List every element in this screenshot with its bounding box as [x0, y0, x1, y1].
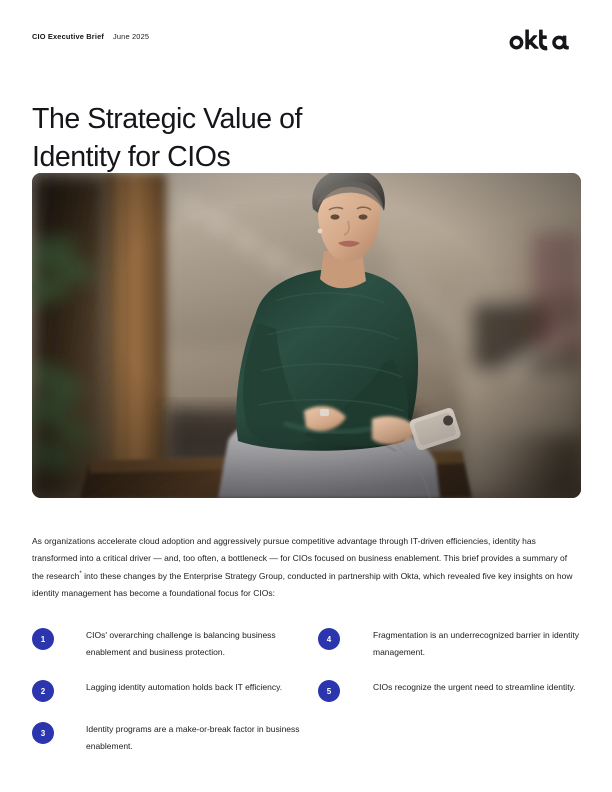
list-item: 5 CIOs recognize the urgent need to stre…	[318, 678, 581, 702]
insight-text: Fragmentation is an underrecognized barr…	[373, 626, 581, 660]
insight-text: CIOs recognize the urgent need to stream…	[373, 678, 576, 696]
insights-column-left: 1 CIOs' overarching challenge is balanci…	[32, 626, 318, 754]
intro-text-part-2: into these changes by the Enterprise Str…	[32, 571, 573, 599]
insight-number-badge: 1	[32, 628, 54, 650]
document-page: CIO Executive Brief June 2025 The Strate…	[0, 0, 612, 792]
insight-text: Lagging identity automation holds back I…	[86, 678, 282, 696]
document-date-label: June 2025	[113, 32, 149, 42]
list-item: 4 Fragmentation is an underrecognized ba…	[318, 626, 581, 660]
insight-number-badge: 5	[318, 680, 340, 702]
insight-number-badge: 4	[318, 628, 340, 650]
breadcrumb: CIO Executive Brief June 2025	[32, 28, 149, 42]
list-item: 2 Lagging identity automation holds back…	[32, 678, 318, 702]
page-title-line-2: Identity for CIOs	[32, 138, 472, 176]
document-type-label: CIO Executive Brief	[32, 32, 104, 42]
insight-number-badge: 2	[32, 680, 54, 702]
okta-logo	[505, 28, 581, 52]
insights-column-right: 4 Fragmentation is an underrecognized ba…	[318, 626, 581, 754]
insight-text: CIOs' overarching challenge is balancing…	[86, 626, 318, 660]
insight-number-badge: 3	[32, 722, 54, 744]
list-item: 3 Identity programs are a make-or-break …	[32, 720, 318, 754]
intro-paragraph: As organizations accelerate cloud adopti…	[32, 533, 581, 603]
page-title-line-1: The Strategic Value of	[32, 100, 472, 138]
key-insights-list: 1 CIOs' overarching challenge is balanci…	[32, 626, 581, 754]
page-title: The Strategic Value of Identity for CIOs	[32, 100, 472, 176]
insight-text: Identity programs are a make-or-break fa…	[86, 720, 318, 754]
hero-image	[32, 173, 581, 498]
page-header: CIO Executive Brief June 2025	[32, 28, 581, 52]
list-item: 1 CIOs' overarching challenge is balanci…	[32, 626, 318, 660]
